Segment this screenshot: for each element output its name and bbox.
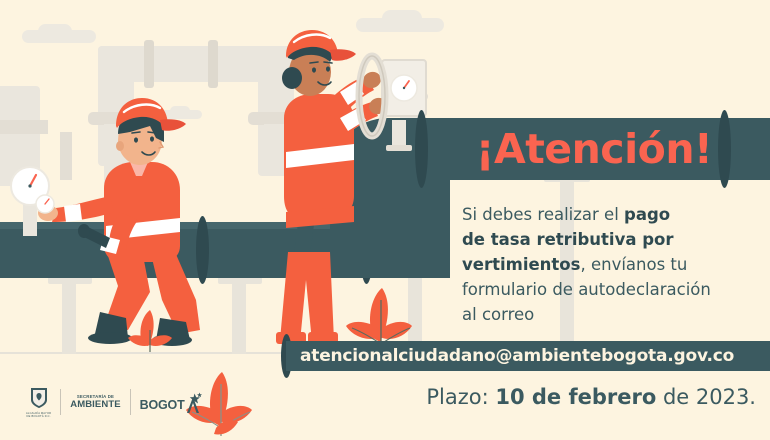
logo-bar: ALCALDÍA MAYOR DE BOGOTÁ D.C. SECRETARÍA… [26, 386, 204, 419]
banner-flange-left-icon [415, 110, 428, 188]
deadline-year: de 2023. [656, 385, 756, 409]
body-line3-post: , envíanos tu [580, 255, 687, 274]
logo-divider [60, 389, 61, 415]
bogota-label: BOGOT [140, 398, 185, 412]
alcaldia-caption: ALCALDÍA MAYOR DE BOGOTÁ D.C. [26, 412, 51, 419]
email-bar[interactable]: atencionalciudadano@ambientebogota.gov.c… [286, 341, 770, 371]
email-address[interactable]: atencionalciudadano@ambientebogota.gov.c… [286, 346, 734, 366]
alcaldia-logo: ALCALDÍA MAYOR DE BOGOTÁ D.C. [26, 386, 51, 419]
bogota-logo: BOGOT [140, 392, 204, 412]
bogota-star-icon [184, 392, 204, 414]
deadline-label: Plazo: [426, 385, 495, 409]
worker-seated-male [36, 98, 200, 346]
body-line2-bold: de tasa retributiva por [462, 230, 674, 249]
banner-flange-right-icon [718, 110, 731, 188]
body-line4: formulario de autodeclaración [462, 280, 711, 299]
body-copy: Si debes realizar el pago de tasa retrib… [462, 202, 762, 327]
alcaldia-caption-line2: DE BOGOTÁ D.C. [27, 415, 51, 418]
body-line5: al correo [462, 305, 534, 324]
body-line3-bold: vertimientos [462, 255, 580, 274]
worker-standing-female [276, 30, 389, 344]
shield-icon [29, 386, 49, 410]
deadline-date: 10 de febrero [495, 385, 656, 409]
poster-canvas: ¡Atención! Si debes realizar el pago de … [0, 0, 770, 440]
body-line1-pre: Si debes realizar el [462, 205, 624, 224]
body-line1-bold: pago [624, 205, 670, 224]
secretaria-bottom-label: AMBIENTE [70, 400, 120, 410]
secretaria-ambiente-logo: SECRETARÍA DE AMBIENTE [70, 395, 120, 410]
logo-divider [130, 389, 131, 415]
